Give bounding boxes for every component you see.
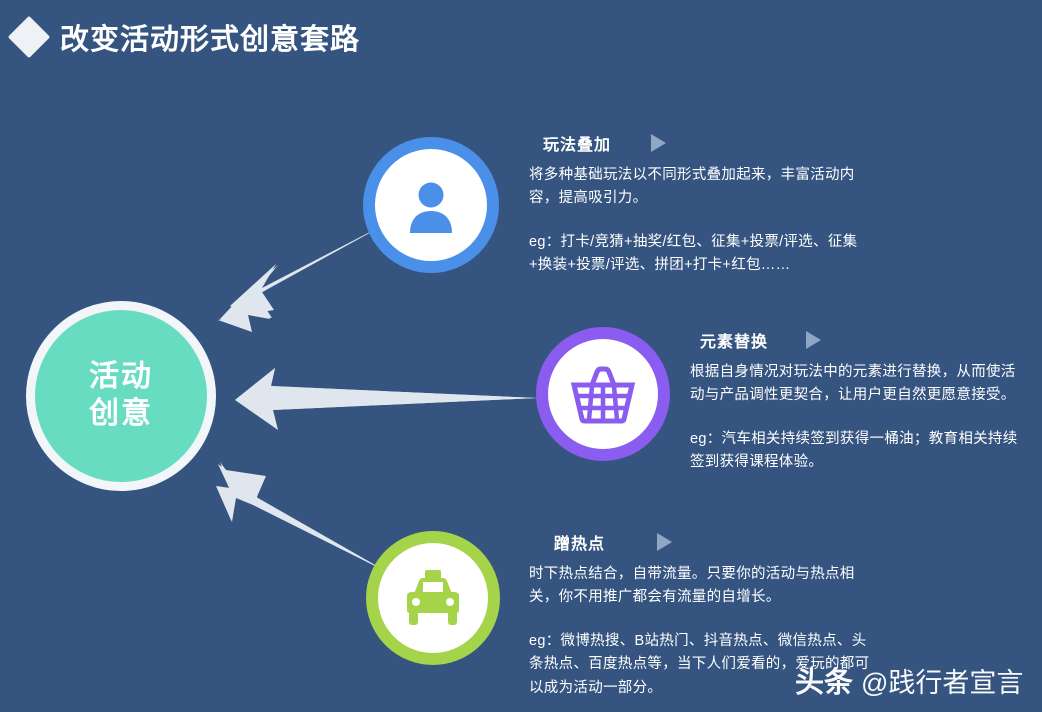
- slide-canvas: 改变活动形式创意套路 活动 创意: [0, 0, 1042, 712]
- person-icon: [399, 173, 463, 237]
- center-hub-line-1: 活动: [89, 359, 153, 396]
- play-triangle-icon: [651, 134, 666, 152]
- section-body-ride-the-trend: 时下热点结合，自带流量。只要你的活动与热点相关，你不用推广都会有流量的自增长。: [529, 563, 879, 610]
- section-icon-gameplay-stacking: [363, 137, 499, 273]
- section-text-element-replacement: 元素替换 根据自身情况对玩法中的元素进行替换，从而使活动与产品调性更契合，让用户…: [690, 328, 1020, 475]
- section-body-gameplay-stacking: 将多种基础玩法以不同形式叠加起来，丰富活动内容，提高吸引力。: [529, 164, 859, 211]
- play-triangle-icon: [657, 533, 672, 551]
- section-title-element-replacement: 元素替换: [700, 328, 768, 352]
- section-title-ride-the-trend: 蹭热点: [554, 530, 605, 554]
- section-header-gameplay-stacking: 玩法叠加: [529, 131, 859, 155]
- section-header-ride-the-trend: 蹭热点: [529, 530, 879, 554]
- arrow-to-hub-top: [200, 218, 395, 343]
- section-example-element-replacement: eg：汽车相关持续签到获得一桶油；教育相关持续签到获得课程体验。: [690, 428, 1020, 475]
- diamond-icon: [8, 16, 50, 58]
- page-title: 改变活动形式创意套路: [14, 16, 360, 58]
- section-icon-ride-the-trend: [366, 531, 500, 665]
- section-header-element-replacement: 元素替换: [690, 328, 1020, 352]
- play-triangle-icon: [806, 331, 821, 349]
- page-title-text: 改变活动形式创意套路: [60, 16, 360, 58]
- watermark-brand: 头条: [795, 659, 853, 701]
- shopping-basket-icon: [570, 363, 636, 425]
- section-text-gameplay-stacking: 玩法叠加 将多种基础玩法以不同形式叠加起来，丰富活动内容，提高吸引力。 eg：打…: [529, 131, 859, 278]
- watermark-handle: @践行者宣言: [861, 661, 1023, 700]
- section-icon-element-replacement: [536, 327, 670, 461]
- section-body-element-replacement: 根据自身情况对玩法中的元素进行替换，从而使活动与产品调性更契合，让用户更自然更愿…: [690, 361, 1020, 408]
- arrow-to-hub-middle: [233, 360, 538, 432]
- center-hub-line-2: 创意: [89, 396, 153, 433]
- section-example-gameplay-stacking: eg：打卡/竞猜+抽奖/红包、征集+投票/评选、征集+换装+投票/评选、拼团+打…: [529, 231, 859, 278]
- taxi-icon: [399, 568, 467, 628]
- section-title-gameplay-stacking: 玩法叠加: [543, 131, 611, 155]
- watermark: 头条 @践行者宣言: [795, 659, 1023, 701]
- arrow-to-hub-bottom: [198, 452, 393, 577]
- center-hub: 活动 创意: [26, 301, 216, 491]
